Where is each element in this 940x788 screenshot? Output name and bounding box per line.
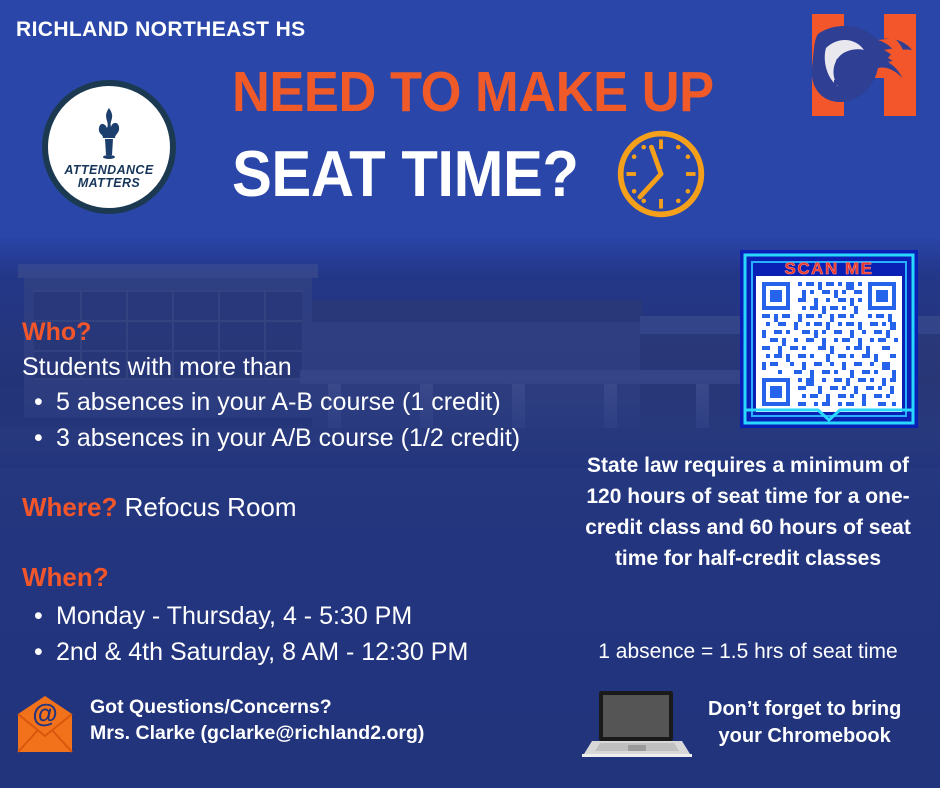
list-item: 5 absences in your A-B course (1 credit) [56, 384, 582, 420]
when-label: When? [22, 562, 109, 593]
laptop-icon [582, 688, 692, 758]
scan-me-label: SCAN ME [785, 259, 874, 278]
headline-line-1: NEED TO MAKE UP [232, 64, 729, 120]
clock-icon [613, 126, 709, 222]
chromebook-text: Don’t forget to bring your Chromebook [708, 696, 901, 750]
where-value: Refocus Room [125, 492, 297, 522]
where-label: Where? [22, 492, 117, 522]
page-title: RICHLAND NORTHEAST HS [16, 18, 306, 42]
where-section: Where? Refocus Room [22, 492, 297, 523]
contact-text: Got Questions/Concerns? Mrs. Clarke (gcl… [90, 694, 424, 746]
attendance-matters-logo: ATTENDANCE MATTERS [42, 80, 176, 214]
list-item: 2nd & 4th Saturday, 8 AM - 12:30 PM [56, 634, 582, 670]
headline-block: NEED TO MAKE UP SEAT TIME? [232, 64, 772, 222]
svg-text:@: @ [32, 698, 57, 728]
absence-conversion-note: 1 absence = 1.5 hrs of seat time [572, 640, 924, 664]
who-section: Who? Students with more than 5 absences … [22, 318, 582, 456]
who-label: Who? [22, 318, 582, 347]
chromebook-block: Don’t forget to bring your Chromebook [582, 688, 901, 758]
cavalier-head-icon [800, 6, 928, 124]
flyer-poster: RICHLAND NORTHEAST HS ATTENDANCE MATTERS [0, 0, 940, 788]
chromebook-line-1: Don’t forget to bring [708, 696, 901, 723]
who-intro: Students with more than [22, 353, 582, 382]
headline-line-2: SEAT TIME? [232, 142, 578, 206]
flame-torch-icon [89, 107, 129, 161]
logo-line-1: ATTENDANCE [64, 164, 153, 177]
chromebook-line-2: your Chromebook [708, 723, 901, 750]
qr-code-icon[interactable]: SCAN ME [740, 250, 918, 428]
when-bullet-list: Monday - Thursday, 4 - 5:30 PM 2nd & 4th… [22, 598, 582, 670]
when-section: Monday - Thursday, 4 - 5:30 PM 2nd & 4th… [22, 596, 582, 670]
state-law-text: State law requires a minimum of 120 hour… [572, 450, 924, 574]
list-item: Monday - Thursday, 4 - 5:30 PM [56, 598, 582, 634]
contact-line-1: Got Questions/Concerns? [90, 694, 424, 720]
contact-block: @ Got Questions/Concerns? Mrs. Clarke (g… [14, 694, 424, 754]
email-envelope-icon: @ [14, 696, 76, 754]
attendance-matters-text: ATTENDANCE MATTERS [64, 164, 153, 190]
who-bullet-list: 5 absences in your A-B course (1 credit)… [22, 384, 582, 456]
contact-line-2: Mrs. Clarke (gclarke@richland2.org) [90, 720, 424, 746]
list-item: 3 absences in your A/B course (1/2 credi… [56, 420, 582, 456]
logo-line-2: MATTERS [64, 177, 153, 190]
qr-code-block[interactable]: SCAN ME [740, 250, 918, 428]
